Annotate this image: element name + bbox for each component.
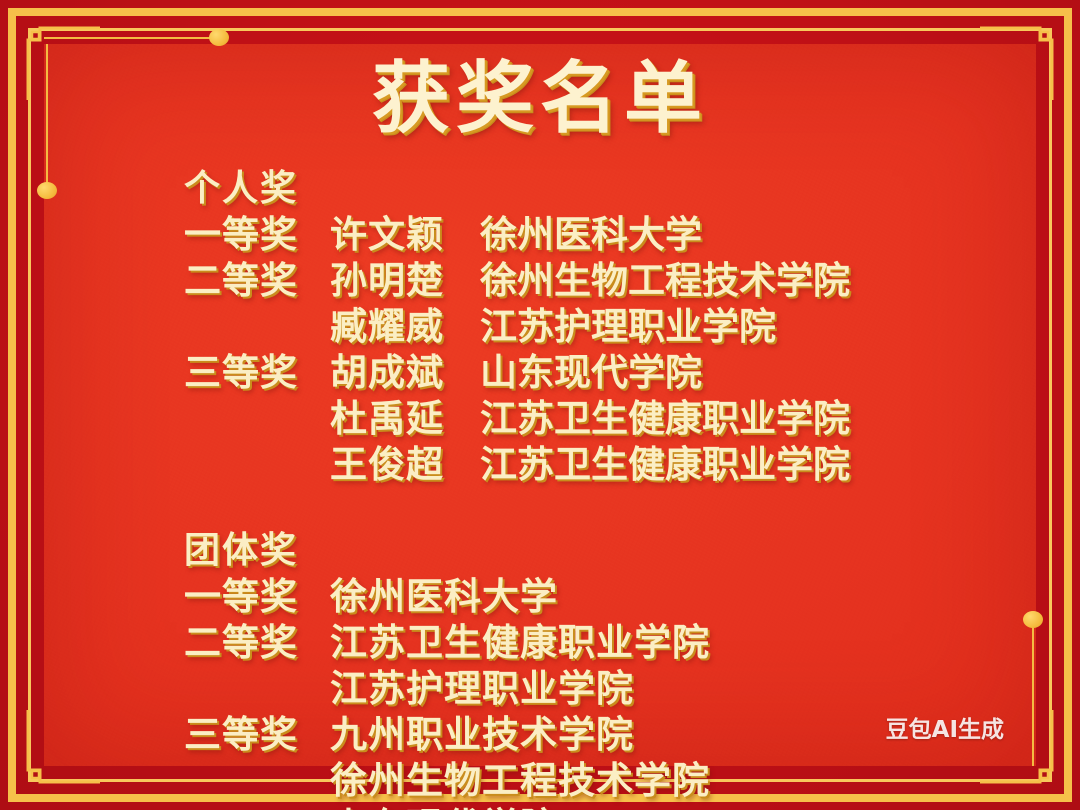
winner-organization: 江苏护理职业学院 <box>330 670 634 707</box>
table-row: 一等奖 许文颖 徐州医科大学 <box>184 216 1016 262</box>
poster-content: 获奖名单 个人奖 一等奖 许文颖 徐州医科大学 二等奖 孙明楚 徐州生物工程技术… <box>44 44 1036 766</box>
table-row: 三等奖 胡成斌 山东现代学院 <box>184 354 1016 400</box>
winner-organization: 徐州医科大学 <box>480 216 1016 253</box>
award-rank: 一等奖 <box>184 578 330 615</box>
winner-name: 许文颖 <box>330 216 480 253</box>
table-row: 一等奖 徐州医科大学 <box>184 578 1016 624</box>
winner-organization: 山东现代学院 <box>480 354 1016 391</box>
winner-name: 杜禹延 <box>330 400 480 437</box>
winner-name: 王俊超 <box>330 446 480 483</box>
winner-name: 胡成斌 <box>330 354 480 391</box>
section-heading-individual: 个人奖 <box>184 170 1016 206</box>
winner-organization: 九州职业技术学院 <box>330 716 634 753</box>
award-rank: 三等奖 <box>184 354 330 391</box>
table-row: 二等奖 孙明楚 徐州生物工程技术学院 <box>184 262 1016 308</box>
section-heading-group: 团体奖 <box>184 532 1016 568</box>
award-rank: 三等奖 <box>184 716 330 753</box>
ai-watermark: 豆包AI生成 <box>886 710 1004 744</box>
winner-organization: 江苏护理职业学院 <box>480 308 1016 345</box>
table-row: 徐州生物工程技术学院 <box>184 762 1016 808</box>
winner-organization: 徐州生物工程技术学院 <box>480 262 1016 299</box>
section-spacer <box>184 492 1016 532</box>
award-rank: 二等奖 <box>184 262 330 299</box>
table-row: 二等奖 江苏卫生健康职业学院 <box>184 624 1016 670</box>
table-row: 王俊超 江苏卫生健康职业学院 <box>184 446 1016 492</box>
page-title: 获奖名单 <box>44 60 1036 138</box>
winner-organization: 徐州生物工程技术学院 <box>330 762 710 799</box>
winner-name: 孙明楚 <box>330 262 480 299</box>
winner-organization: 江苏卫生健康职业学院 <box>330 624 710 661</box>
award-rank: 二等奖 <box>184 624 330 661</box>
winner-name: 臧耀威 <box>330 308 480 345</box>
award-rank: 一等奖 <box>184 216 330 253</box>
table-row: 臧耀威 江苏护理职业学院 <box>184 308 1016 354</box>
winner-organization: 徐州医科大学 <box>330 578 558 615</box>
table-row: 杜禹延 江苏卫生健康职业学院 <box>184 400 1016 446</box>
winner-organization: 江苏卫生健康职业学院 <box>480 446 1016 483</box>
award-list-poster: 获奖名单 个人奖 一等奖 许文颖 徐州医科大学 二等奖 孙明楚 徐州生物工程技术… <box>0 0 1080 810</box>
winner-organization: 江苏卫生健康职业学院 <box>480 400 1016 437</box>
